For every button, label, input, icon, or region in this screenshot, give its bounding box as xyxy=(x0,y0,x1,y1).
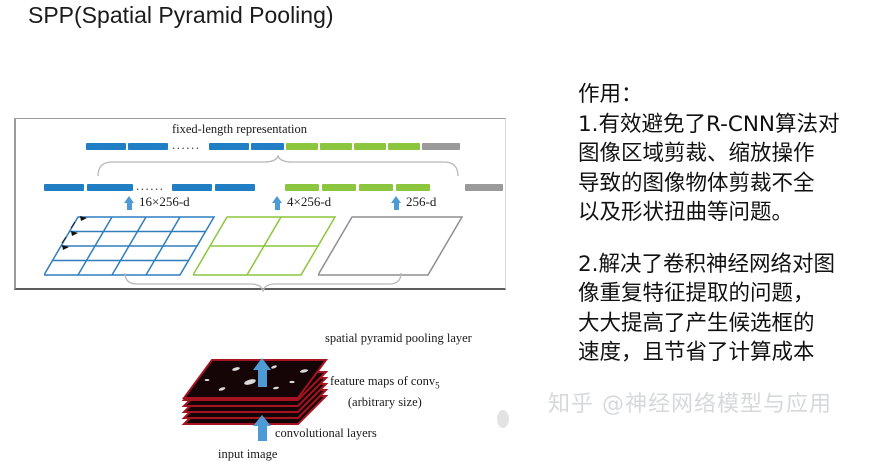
bar-green-3 xyxy=(354,143,386,150)
pooled-bar-green-1 xyxy=(285,184,319,191)
pooled-bar-blue-4 xyxy=(215,184,255,191)
feature-maps-line1: feature maps of conv xyxy=(330,374,435,388)
notes-heading: 作用： xyxy=(578,80,874,110)
dimension-label-4x256: 4×256-d xyxy=(287,194,331,210)
notes-p1-line3: 导致的图像物体剪裁不全 xyxy=(578,169,874,199)
notes-p2-line2: 像重复特征提取的问题， xyxy=(578,279,874,309)
slide-canvas: SPP(Spatial Pyramid Pooling) fully-conne… xyxy=(0,0,876,432)
bar-blue-3 xyxy=(209,143,249,150)
bar-blue-4 xyxy=(251,143,284,150)
pooled-bar-blue-3 xyxy=(172,184,212,191)
brace-pooling-layer xyxy=(123,272,403,292)
notes-p2-line1: 2.解决了卷积神经网络对图 xyxy=(578,250,874,280)
notes-spacer xyxy=(578,228,874,250)
brace-concat xyxy=(96,155,460,177)
pooled-bar-gray-1 xyxy=(465,184,503,191)
fixed-length-representation-label: fixed-length representation xyxy=(172,122,307,137)
feature-maps-label: feature maps of conv5 (arbitrary size) xyxy=(330,373,440,410)
convolutional-layers-label: convolutional layers xyxy=(275,426,377,441)
conv5-subscript: 5 xyxy=(435,381,440,391)
ellipsis-top-row: ...... xyxy=(172,141,201,148)
pooled-bar-blue-2 xyxy=(87,184,133,191)
notes-panel: 作用： 1.有效避免了R-CNN算法对 图像区域剪裁、缩放操作 导致的图像物体剪… xyxy=(578,80,874,368)
bar-blue-1 xyxy=(86,143,126,150)
dimension-label-16x256: 16×256-d xyxy=(139,194,190,210)
notes-p1-line2: 图像区域剪裁、缩放操作 xyxy=(578,139,874,169)
bar-green-4 xyxy=(388,143,420,150)
pooled-bar-green-2 xyxy=(322,184,356,191)
page-title: SPP(Spatial Pyramid Pooling) xyxy=(28,2,334,29)
ellipsis-second-row: ...... xyxy=(136,182,165,189)
zhihu-watermark: 知乎 @神经网络模型与应用 xyxy=(548,386,832,418)
image-artifact xyxy=(497,410,509,428)
bar-gray-1 xyxy=(422,143,460,150)
feature-maps-line2: (arbitrary size) xyxy=(330,394,440,410)
bar-green-1 xyxy=(286,143,318,150)
input-image-label: input image xyxy=(218,447,277,462)
notes-p1-line1: 1.有效避免了R-CNN算法对 xyxy=(578,110,874,140)
dimension-label-256: 256-d xyxy=(406,194,436,210)
pooled-bar-green-3 xyxy=(359,184,393,191)
spp-architecture-figure: fully-connected layers (fc6, fc7) fixed-… xyxy=(0,58,530,432)
bar-blue-2 xyxy=(128,143,168,150)
pooled-bar-green-4 xyxy=(396,184,430,191)
bar-green-2 xyxy=(320,143,352,150)
pooled-bar-blue-1 xyxy=(44,184,84,191)
notes-p2-line4: 速度，且节省了计算成本 xyxy=(578,338,874,368)
spatial-pyramid-pooling-layer-label: spatial pyramid pooling layer xyxy=(325,331,472,346)
notes-p2-line3: 大大提高了产生候选框的 xyxy=(578,309,874,339)
notes-p1-line4: 以及形状扭曲等问题。 xyxy=(578,198,874,228)
